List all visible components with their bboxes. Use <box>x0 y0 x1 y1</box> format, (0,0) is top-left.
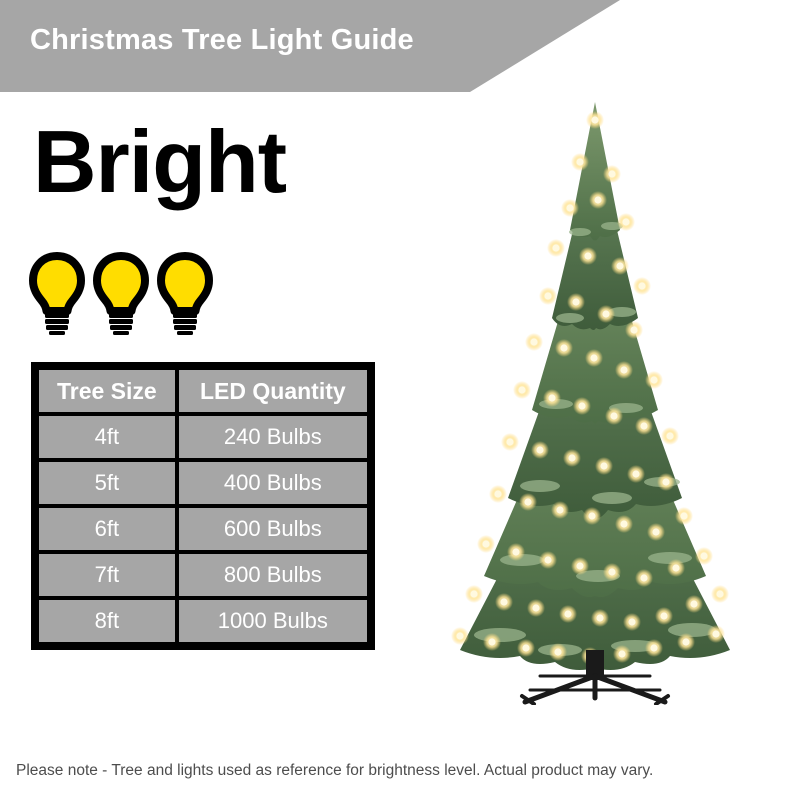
table-header-row: Tree Size LED Quantity <box>39 370 367 412</box>
table-row: 7ft 800 Bulbs <box>39 554 367 596</box>
table-row: 5ft 400 Bulbs <box>39 462 367 504</box>
brightness-bulb-rating <box>28 252 214 336</box>
cell-tree-size: 6ft <box>39 508 175 550</box>
cell-led-quantity: 600 Bulbs <box>179 508 367 550</box>
light-bulb-icon <box>92 252 150 336</box>
christmas-tree-image <box>430 90 760 705</box>
cell-tree-size: 4ft <box>39 416 175 458</box>
light-bulb-icon <box>28 252 86 336</box>
cell-led-quantity: 800 Bulbs <box>179 554 367 596</box>
table-row: 6ft 600 Bulbs <box>39 508 367 550</box>
page-title: Christmas Tree Light Guide <box>30 24 414 57</box>
cell-tree-size: 5ft <box>39 462 175 504</box>
light-bulb-icon <box>156 252 214 336</box>
led-quantity-table: Tree Size LED Quantity 4ft 240 Bulbs 5ft… <box>31 362 375 650</box>
column-header-tree-size: Tree Size <box>39 370 175 412</box>
column-header-led-quantity: LED Quantity <box>179 370 367 412</box>
table-row: 8ft 1000 Bulbs <box>39 600 367 642</box>
cell-led-quantity: 1000 Bulbs <box>179 600 367 642</box>
tree-foliage <box>460 102 730 670</box>
cell-tree-size: 8ft <box>39 600 175 642</box>
brightness-level-label: Bright <box>33 118 286 206</box>
table-row: 4ft 240 Bulbs <box>39 416 367 458</box>
footer-disclaimer: Please note - Tree and lights used as re… <box>16 762 653 780</box>
cell-led-quantity: 400 Bulbs <box>179 462 367 504</box>
cell-tree-size: 7ft <box>39 554 175 596</box>
cell-led-quantity: 240 Bulbs <box>179 416 367 458</box>
